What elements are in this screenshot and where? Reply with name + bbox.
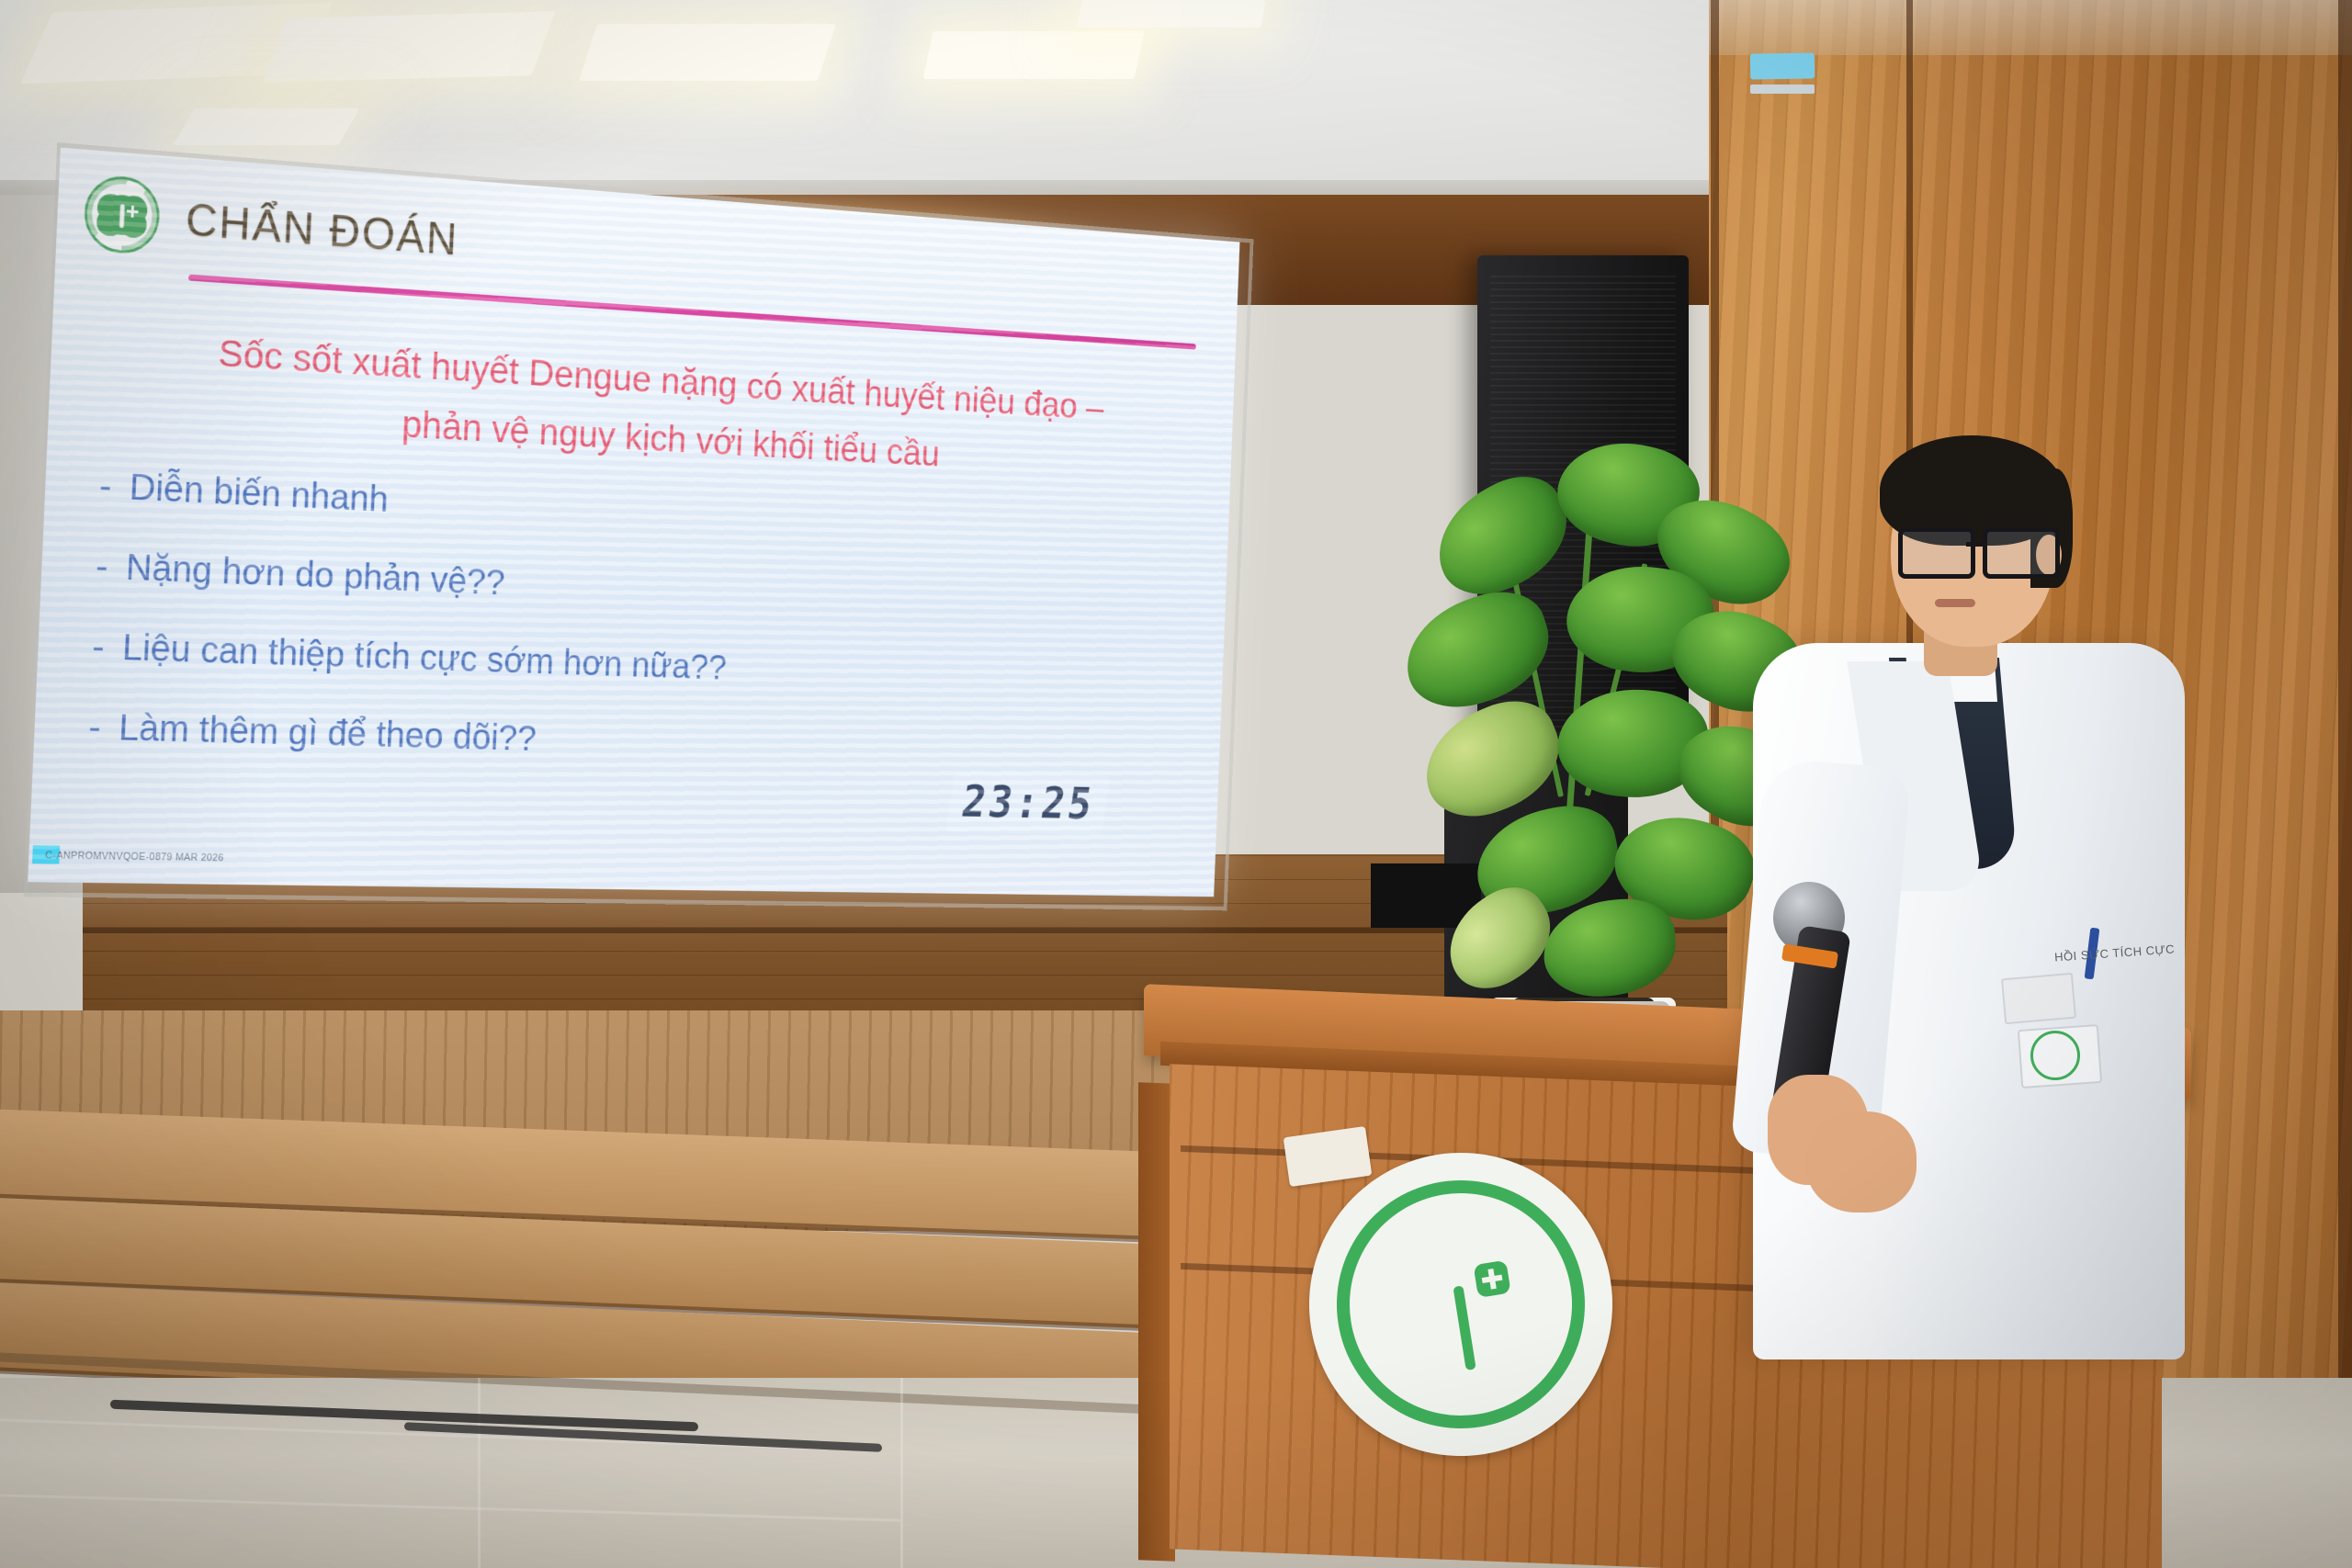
bullet-text: Nặng hơn do phản vệ?? (125, 548, 505, 601)
mouth (1935, 599, 1975, 607)
bullet-dash: - (95, 547, 108, 585)
hand (1806, 1111, 1917, 1213)
presenter: HỒI SỨC TÍCH CỰC (1727, 432, 2242, 1359)
list-item: - Liệu can thiệp tích cực sớm hơn nữa?? (91, 627, 1172, 700)
bullet-dash: - (88, 708, 102, 746)
eyeglasses (1898, 527, 2060, 571)
badge-hospital-logo-icon (2030, 1031, 2080, 1080)
ceiling-light-panel (922, 31, 1144, 79)
slide-title: CHẨN ĐOÁN (185, 194, 459, 265)
wall-sign (1750, 52, 1815, 79)
slide-reference-code: C-ANPROMVNVQOE-0879 MAR 2026 (45, 850, 224, 863)
wood-panel-seam (2338, 0, 2352, 1568)
ceiling-light-panel (173, 108, 359, 145)
bullet-text: Làm thêm gì để theo dõi?? (118, 709, 537, 757)
slide-highlight-block: Sốc sốt xuất huyết Dengue nặng có xuất h… (101, 316, 1198, 496)
list-item: - Nặng hơn do phản vệ?? (95, 547, 1175, 628)
bullet-text: Diễn biến nhanh (129, 468, 390, 518)
list-item: - Làm thêm gì để theo dõi?? (88, 708, 1170, 773)
potted-plant (1396, 386, 1782, 1029)
presentation-timer: 23:25 (945, 772, 1110, 835)
bullet-text: Liệu can thiệp tích cực sớm hơn nữa?? (121, 628, 727, 685)
floor-tile-line (900, 1378, 903, 1568)
ceiling-light-panel (579, 24, 836, 81)
ceiling-light-panel (262, 11, 555, 83)
presentation-room-photo: CHẨN ĐOÁN Sốc sốt xuất huyết Dengue nặng… (0, 0, 2352, 1568)
right-wall-top-trim (1709, 0, 2352, 55)
wall-sign-shadow (1750, 85, 1815, 94)
projection-screen[interactable]: CHẨN ĐOÁN Sốc sốt xuất huyết Dengue nặng… (28, 148, 1239, 897)
id-card (2001, 973, 2076, 1025)
bullet-dash: - (91, 627, 105, 665)
bach-mai-logo-icon (83, 174, 161, 255)
floor-tile-line (478, 1378, 481, 1568)
ceiling-light-panel (1077, 0, 1265, 28)
bullet-dash: - (98, 467, 112, 504)
slide-bullet-list: - Diễn biến nhanh - Nặng hơn do phản vệ?… (86, 467, 1179, 811)
